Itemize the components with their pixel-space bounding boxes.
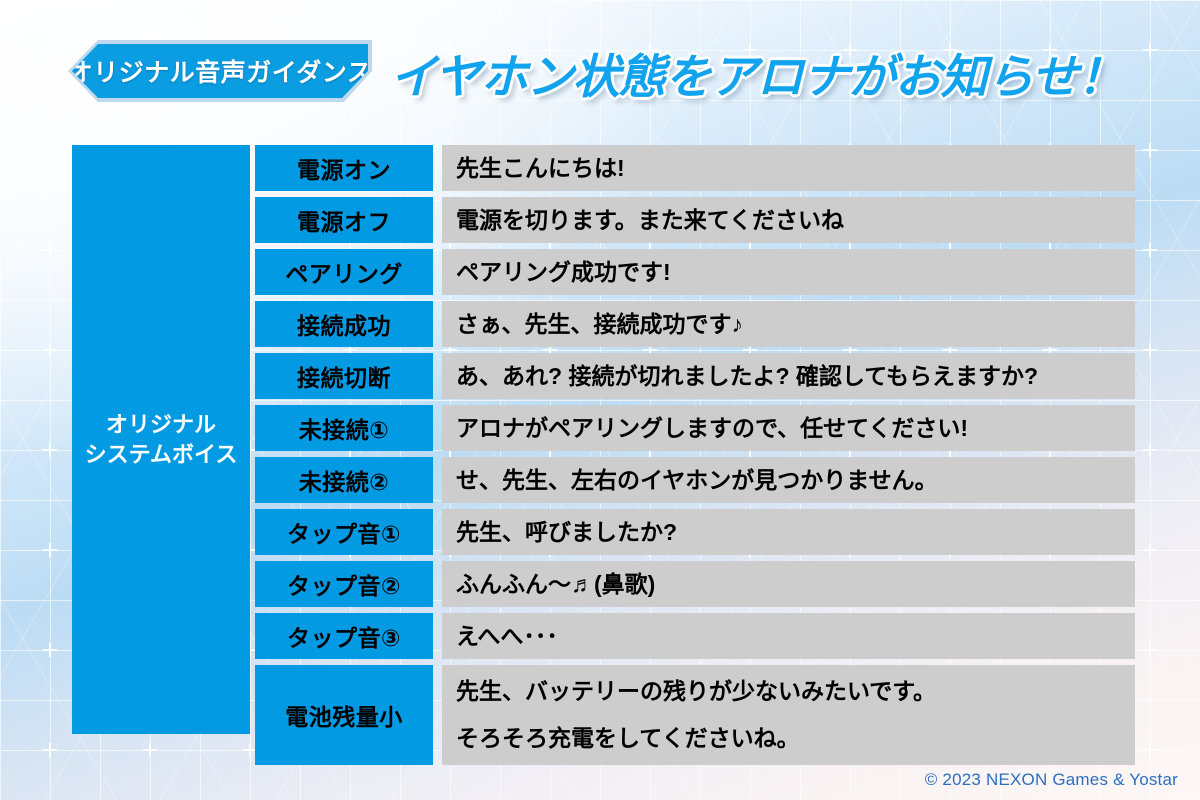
row-label: タップ音③ bbox=[255, 613, 433, 659]
table-row: 未接続①アロナがペアリングしますので、任せてください! bbox=[255, 405, 1135, 451]
voice-line-text: えへへ･･･ bbox=[456, 625, 1135, 648]
guidance-badge-label: オリジナル音声ガイダンス bbox=[68, 53, 373, 89]
voice-line-text: そろそろ充電をしてくださいね。 bbox=[456, 727, 1135, 750]
row-gap bbox=[433, 613, 442, 659]
row-label: タップ音② bbox=[255, 561, 433, 607]
row-label: 未接続① bbox=[255, 405, 433, 451]
row-voice-line: あ、あれ? 接続が切れましたよ? 確認してもらえますか? bbox=[442, 353, 1135, 399]
row-voice-line: 電源を切ります。また来てくださいね bbox=[442, 197, 1135, 243]
row-gap bbox=[433, 457, 442, 503]
table-row: 電源オフ電源を切ります。また来てくださいね bbox=[255, 197, 1135, 243]
table-row: 接続成功さぁ、先生、接続成功です♪ bbox=[255, 301, 1135, 347]
row-label: タップ音① bbox=[255, 509, 433, 555]
row-voice-line: ペアリング成功です! bbox=[442, 249, 1135, 295]
voice-line-text: 先生こんにちは! bbox=[456, 157, 1135, 180]
row-gap bbox=[433, 405, 442, 451]
row-label: 電池残量小 bbox=[255, 665, 433, 765]
row-gap bbox=[433, 197, 442, 243]
voice-line-text: あ、あれ? 接続が切れましたよ? 確認してもらえますか? bbox=[456, 365, 1135, 388]
row-label: 接続成功 bbox=[255, 301, 433, 347]
row-label: 未接続② bbox=[255, 457, 433, 503]
row-voice-line: 先生、バッテリーの残りが少ないみたいです。そろそろ充電をしてくださいね。 bbox=[442, 665, 1135, 765]
row-voice-line: えへへ･･･ bbox=[442, 613, 1135, 659]
table-row: 接続切断あ、あれ? 接続が切れましたよ? 確認してもらえますか? bbox=[255, 353, 1135, 399]
row-gap bbox=[433, 561, 442, 607]
row-gap bbox=[433, 353, 442, 399]
row-voice-line: アロナがペアリングしますので、任せてください! bbox=[442, 405, 1135, 451]
header: オリジナル音声ガイダンス イヤホン状態をアロナがお知らせ！ bbox=[0, 0, 1200, 132]
voice-line-text: ペアリング成功です! bbox=[456, 261, 1135, 284]
table-rows: 電源オン先生こんにちは!電源オフ電源を切ります。また来てくださいねペアリングペア… bbox=[255, 145, 1135, 734]
category-cell: オリジナル システムボイス bbox=[72, 145, 250, 734]
page-title: イヤホン状態をアロナがお知らせ！ bbox=[390, 36, 1150, 108]
voice-lines-table: オリジナル システムボイス 電源オン先生こんにちは!電源オフ電源を切ります。また… bbox=[72, 145, 1135, 734]
row-voice-line: ふんふん〜♬(鼻歌) bbox=[442, 561, 1135, 607]
copyright-notice: © 2023 NEXON Games & Yostar bbox=[925, 770, 1178, 790]
row-gap bbox=[433, 665, 442, 765]
table-row: 未接続②せ、先生、左右のイヤホンが見つかりません。 bbox=[255, 457, 1135, 503]
voice-line-text: アロナがペアリングしますので、任せてください! bbox=[456, 417, 1135, 440]
voice-line-text: さぁ、先生、接続成功です♪ bbox=[456, 313, 1135, 336]
voice-line-text: 電源を切ります。また来てくださいね bbox=[456, 209, 1135, 232]
table-row: ペアリングペアリング成功です! bbox=[255, 249, 1135, 295]
table-row: タップ音①先生、呼びましたか? bbox=[255, 509, 1135, 555]
poster-root: オリジナル音声ガイダンス イヤホン状態をアロナがお知らせ！ オリジナル システム… bbox=[0, 0, 1200, 800]
row-label: ペアリング bbox=[255, 249, 433, 295]
row-voice-line: 先生、呼びましたか? bbox=[442, 509, 1135, 555]
row-label: 電源オン bbox=[255, 145, 433, 191]
row-gap bbox=[433, 249, 442, 295]
row-label: 接続切断 bbox=[255, 353, 433, 399]
row-voice-line: さぁ、先生、接続成功です♪ bbox=[442, 301, 1135, 347]
voice-line-text: 先生、呼びましたか? bbox=[456, 521, 1135, 544]
table-row: タップ音②ふんふん〜♬(鼻歌) bbox=[255, 561, 1135, 607]
row-gap bbox=[433, 145, 442, 191]
voice-line-text: ふんふん〜♬(鼻歌) bbox=[456, 573, 1135, 596]
table-row: 電源オン先生こんにちは! bbox=[255, 145, 1135, 191]
row-gap bbox=[433, 301, 442, 347]
category-label: オリジナル システムボイス bbox=[85, 410, 238, 469]
row-voice-line: 先生こんにちは! bbox=[442, 145, 1135, 191]
row-voice-line: せ、先生、左右のイヤホンが見つかりません。 bbox=[442, 457, 1135, 503]
table-row: 電池残量小先生、バッテリーの残りが少ないみたいです。そろそろ充電をしてくださいね… bbox=[255, 665, 1135, 765]
row-gap bbox=[433, 509, 442, 555]
voice-line-text: 先生、バッテリーの残りが少ないみたいです。 bbox=[456, 680, 1135, 703]
voice-line-text: せ、先生、左右のイヤホンが見つかりません。 bbox=[456, 469, 1135, 492]
guidance-badge: オリジナル音声ガイダンス bbox=[72, 44, 368, 98]
row-label: 電源オフ bbox=[255, 197, 433, 243]
table-row: タップ音③えへへ･･･ bbox=[255, 613, 1135, 659]
